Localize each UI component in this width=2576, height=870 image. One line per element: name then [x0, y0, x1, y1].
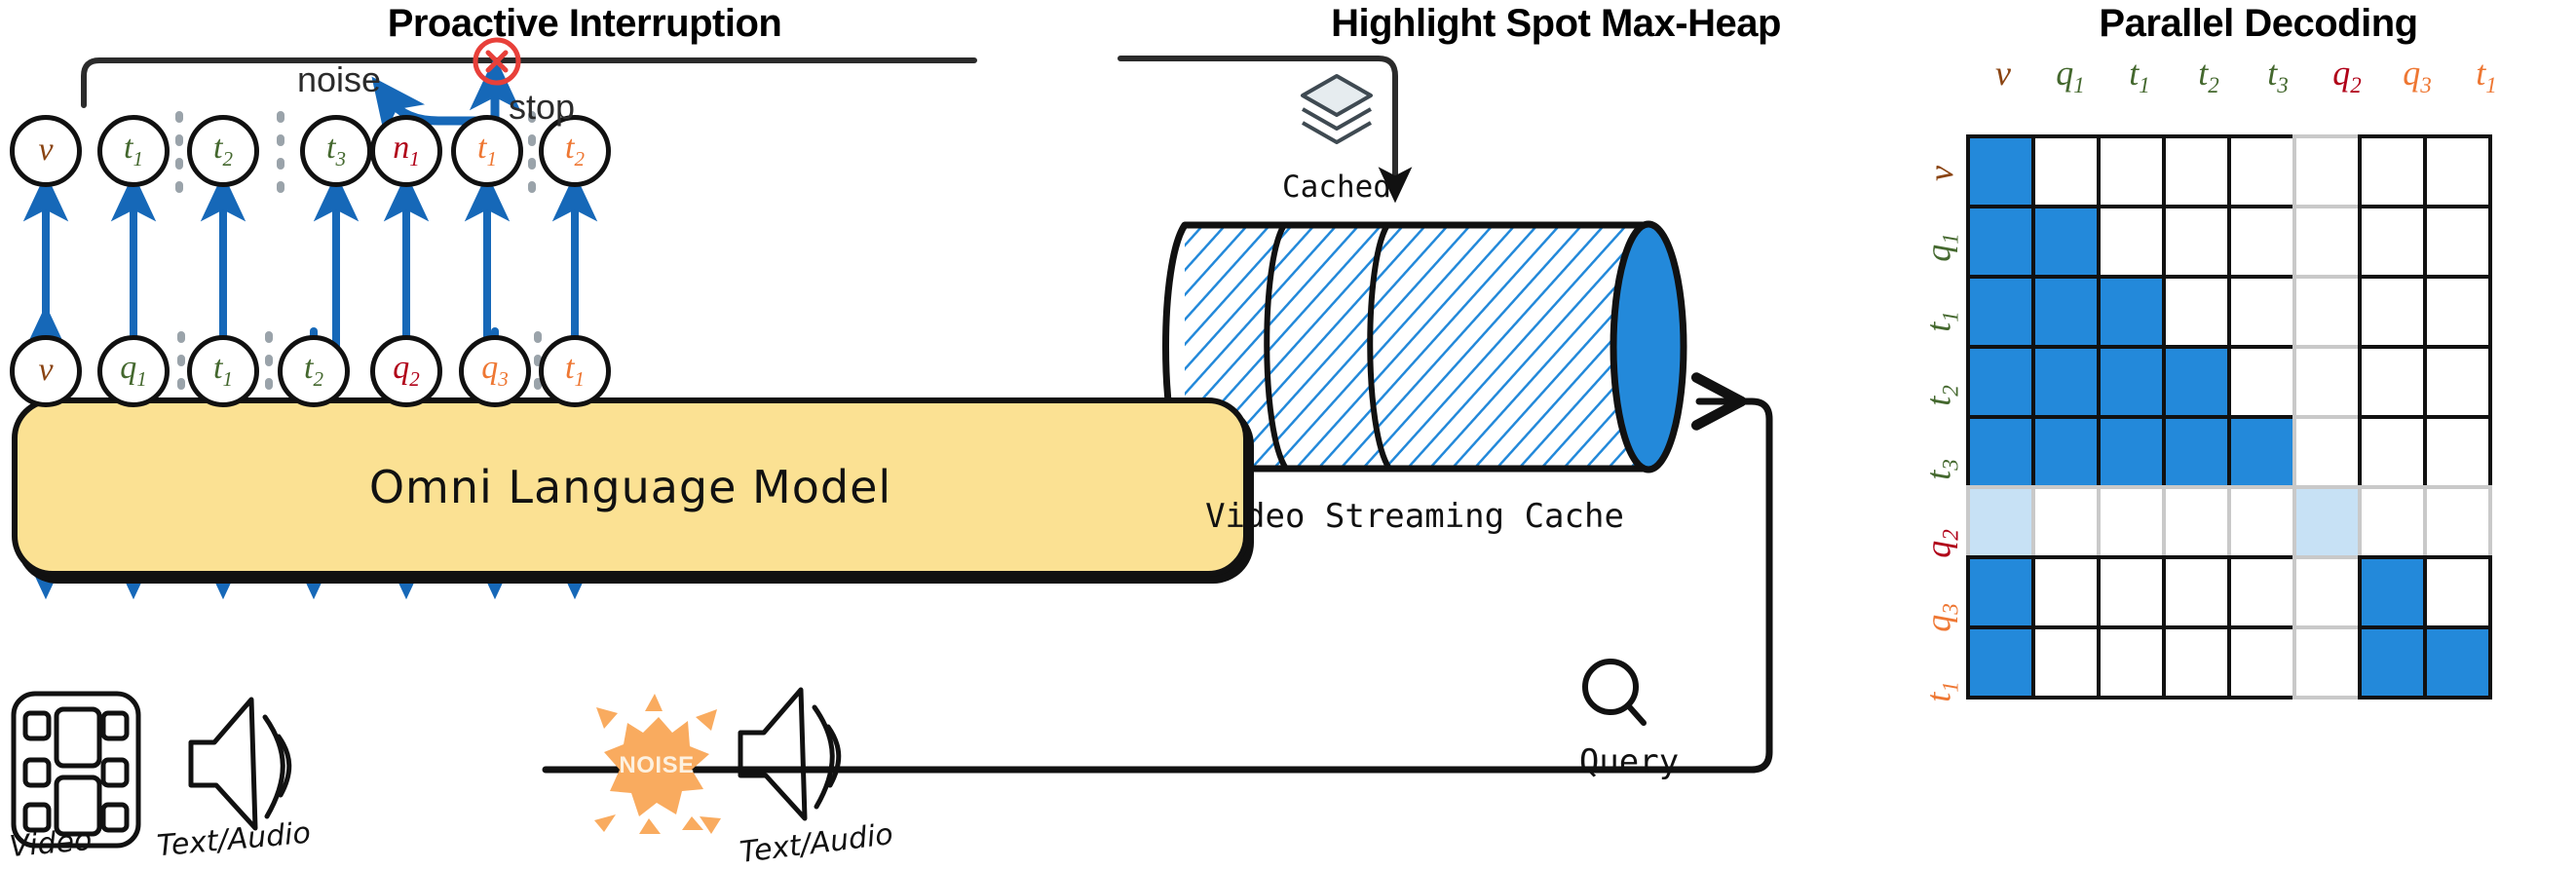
matrix-cell[interactable] — [2162, 205, 2231, 279]
matrix-row-header: t3 — [1917, 459, 1963, 480]
matrix-cell[interactable] — [2227, 275, 2296, 349]
matrix-cell[interactable] — [2031, 345, 2101, 419]
matrix-cell[interactable] — [2162, 625, 2231, 700]
figure-canvas: Proactive Interruption Highlight Spot Ma… — [0, 0, 2576, 863]
matrix-cell[interactable] — [2292, 134, 2362, 208]
matrix-cell[interactable] — [2031, 275, 2101, 349]
matrix-row — [1968, 487, 2490, 557]
query-label: Query — [1579, 742, 1679, 781]
matrix-cell[interactable] — [2358, 555, 2427, 629]
matrix-cell[interactable] — [2097, 555, 2166, 629]
matrix-cell[interactable] — [2292, 625, 2362, 700]
matrix-cell[interactable] — [2031, 485, 2101, 559]
matrix-row-header: t1 — [1917, 681, 1963, 702]
matrix-col-header: q3 — [2403, 53, 2432, 98]
output-token[interactable]: v — [10, 115, 82, 187]
matrix-cell[interactable] — [2097, 625, 2166, 700]
output-token[interactable]: t2 — [187, 115, 259, 187]
matrix-cell[interactable] — [2423, 555, 2492, 629]
matrix-row-header: q2 — [1917, 529, 1963, 558]
matrix-cell[interactable] — [2162, 275, 2231, 349]
matrix-cell[interactable] — [1966, 625, 2035, 700]
video-icon — [14, 694, 138, 846]
matrix-cell[interactable] — [2227, 485, 2296, 559]
matrix-row-header: q1 — [1917, 233, 1963, 262]
matrix-cell[interactable] — [2358, 625, 2427, 700]
matrix-cell[interactable] — [2358, 275, 2427, 349]
input-token[interactable]: t1 — [539, 335, 611, 407]
matrix-cell[interactable] — [2227, 415, 2296, 489]
matrix-row-header: v — [1920, 166, 1961, 181]
matrix-row — [1968, 627, 2490, 698]
matrix-cell[interactable] — [2423, 625, 2492, 700]
matrix-cell[interactable] — [2292, 555, 2362, 629]
matrix-cell[interactable] — [2162, 555, 2231, 629]
matrix-cell[interactable] — [2227, 345, 2296, 419]
matrix-cell[interactable] — [1966, 345, 2035, 419]
input-token[interactable]: t2 — [278, 335, 350, 407]
noise-label: noise — [297, 59, 381, 100]
noise-icon-label: NOISE — [619, 752, 694, 779]
matrix-row — [1968, 417, 2490, 487]
matrix-cell[interactable] — [2031, 625, 2101, 700]
input-token[interactable]: v — [10, 335, 82, 407]
matrix-row — [1968, 277, 2490, 347]
input-token[interactable]: t1 — [187, 335, 259, 407]
matrix-cell[interactable] — [1966, 275, 2035, 349]
matrix-cell[interactable] — [2162, 485, 2231, 559]
input-token[interactable]: q1 — [97, 335, 170, 407]
matrix-cell[interactable] — [2162, 345, 2231, 419]
matrix-cell[interactable] — [2031, 415, 2101, 489]
matrix-cell[interactable] — [2162, 415, 2231, 489]
matrix-cell[interactable] — [1966, 134, 2035, 208]
matrix-cell[interactable] — [2292, 275, 2362, 349]
matrix-row — [1968, 557, 2490, 627]
output-token-noise[interactable]: n1 — [370, 115, 442, 187]
matrix-cell[interactable] — [2097, 345, 2166, 419]
matrix-cell[interactable] — [2358, 134, 2427, 208]
audio-icon-left — [191, 700, 289, 828]
cached-label: Cached — [1282, 170, 1391, 205]
matrix-row-header: q3 — [1917, 603, 1963, 632]
matrix-cell[interactable] — [2097, 205, 2166, 279]
matrix-cell[interactable] — [2097, 485, 2166, 559]
matrix-row — [1968, 207, 2490, 277]
matrix-cell[interactable] — [2423, 485, 2492, 559]
matrix-col-header: t3 — [2267, 53, 2289, 98]
matrix-cell[interactable] — [2292, 205, 2362, 279]
query-arrow — [1699, 401, 1769, 729]
matrix-cell[interactable] — [2423, 134, 2492, 208]
matrix-grid — [1968, 136, 2490, 698]
matrix-row-header: t1 — [1917, 311, 1963, 332]
matrix-cell[interactable] — [2227, 134, 2296, 208]
output-token[interactable]: t3 — [300, 115, 372, 187]
matrix-col-header: t1 — [2129, 53, 2150, 98]
matrix-cell[interactable] — [2097, 275, 2166, 349]
matrix-cell[interactable] — [1966, 205, 2035, 279]
video-modality-label: Video — [8, 823, 93, 864]
matrix-cell[interactable] — [1966, 555, 2035, 629]
matrix-cell[interactable] — [2292, 345, 2362, 419]
output-token[interactable]: t1 — [97, 115, 170, 187]
audio-icon-right — [740, 690, 839, 818]
omni-language-model-box: Omni Language Model — [12, 397, 1249, 577]
matrix-cell[interactable] — [2031, 555, 2101, 629]
video-streaming-cache-label: Video Streaming Cache — [1205, 497, 1624, 536]
matrix-cell[interactable] — [2423, 345, 2492, 419]
matrix-col-header: t2 — [2198, 53, 2219, 98]
matrix-cell[interactable] — [2358, 485, 2427, 559]
omni-language-model-label: Omni Language Model — [369, 461, 891, 513]
matrix-row — [1968, 347, 2490, 417]
matrix-cell[interactable] — [2227, 555, 2296, 629]
matrix-row — [1968, 136, 2490, 207]
matrix-col-header: q1 — [2056, 53, 2085, 98]
matrix-cell[interactable] — [2423, 275, 2492, 349]
matrix-cell[interactable] — [2097, 415, 2166, 489]
matrix-cell[interactable] — [2227, 625, 2296, 700]
magnifier-icon — [1585, 662, 1644, 723]
matrix-cell[interactable] — [2423, 415, 2492, 489]
matrix-cell[interactable] — [2358, 345, 2427, 419]
matrix-cell[interactable] — [1966, 415, 2035, 489]
matrix-cell[interactable] — [2097, 134, 2166, 208]
matrix-cell[interactable] — [2162, 134, 2231, 208]
matrix-cell[interactable] — [2292, 485, 2362, 559]
matrix-col-header: q2 — [2332, 53, 2362, 98]
layers-icon — [1303, 76, 1371, 142]
matrix-col-header: v — [1995, 53, 2011, 94]
matrix-cell[interactable] — [2423, 205, 2492, 279]
matrix-cell[interactable] — [2227, 205, 2296, 279]
matrix-cell[interactable] — [2292, 415, 2362, 489]
input-token-noise-query[interactable]: q2 — [370, 335, 442, 407]
input-token[interactable]: q3 — [459, 335, 531, 407]
matrix-cell[interactable] — [1966, 485, 2035, 559]
matrix-row-header: t2 — [1917, 385, 1963, 406]
matrix-cell[interactable] — [2031, 134, 2101, 208]
stop-label: stop — [509, 87, 575, 128]
matrix-cell[interactable] — [2031, 205, 2101, 279]
matrix-cell[interactable] — [2358, 415, 2427, 489]
matrix-cell[interactable] — [2358, 205, 2427, 279]
matrix-col-header: t1 — [2476, 53, 2497, 98]
